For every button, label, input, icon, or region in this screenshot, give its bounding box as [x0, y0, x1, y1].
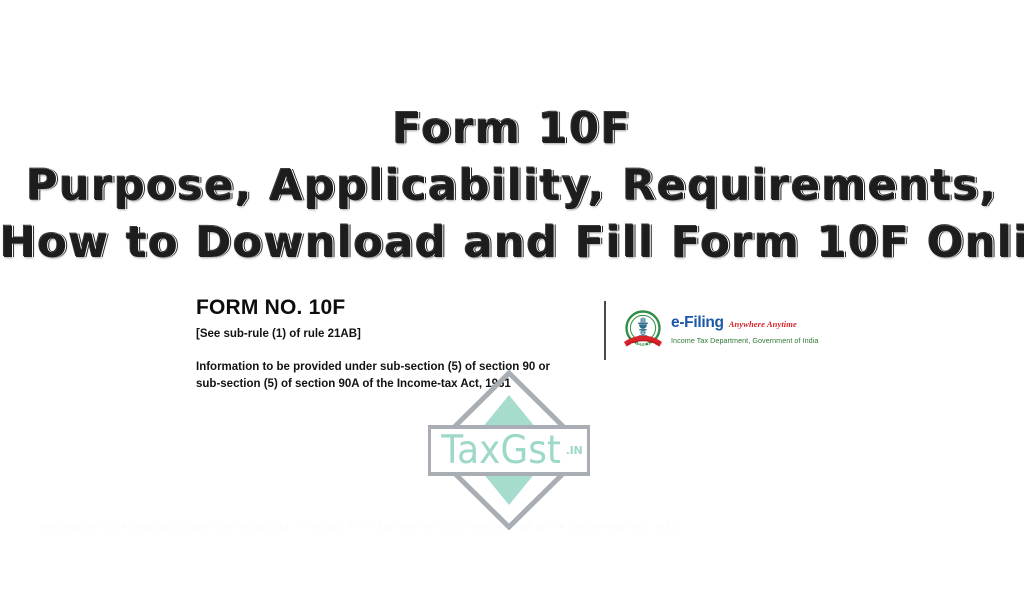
efiling-brand-text: e-Filing — [671, 315, 724, 331]
svg-text:INCOME TAX: INCOME TAX — [631, 342, 655, 346]
headline-line-1: Form 10F — [0, 108, 1024, 151]
vertical-divider — [604, 301, 606, 360]
page-title: Form 10F Purpose, Applicability, Require… — [0, 108, 1024, 265]
efiling-logo: INCOME TAX e-Filing Anywhere Anytime Inc… — [622, 309, 818, 353]
form-description-text: Information to be provided under sub-sec… — [196, 359, 568, 392]
headline-line-2: Purpose, Applicability, Requirements, — [0, 165, 1024, 208]
taxgst-wordmark: TaxGst.IN — [428, 370, 590, 530]
efiling-tagline-text: Anywhere Anytime — [729, 320, 797, 329]
background-faint-text: Information to be provided under sub-sec… — [40, 522, 984, 532]
form-number-heading: FORM NO. 10F — [196, 296, 576, 319]
taxgst-tld-text: .IN — [566, 444, 583, 457]
efiling-department-text: Income Tax Department, Government of Ind… — [671, 336, 818, 345]
headline-line-3: How to Download and Fill Form 10F Online… — [0, 222, 1024, 265]
taxgst-watermark: TaxGst.IN — [428, 370, 590, 530]
form-document-excerpt: FORM NO. 10F [See sub-rule (1) of rule 2… — [196, 296, 576, 392]
india-national-emblem-icon: INCOME TAX — [622, 309, 664, 353]
article-banner-canvas: Form 10F Purpose, Applicability, Require… — [0, 0, 1024, 594]
efiling-wordmark: e-Filing Anywhere Anytime Income Tax Dep… — [671, 314, 818, 349]
form-subrule-reference: [See sub-rule (1) of rule 21AB] — [196, 328, 576, 342]
taxgst-brand-text: TaxGst — [441, 431, 561, 470]
